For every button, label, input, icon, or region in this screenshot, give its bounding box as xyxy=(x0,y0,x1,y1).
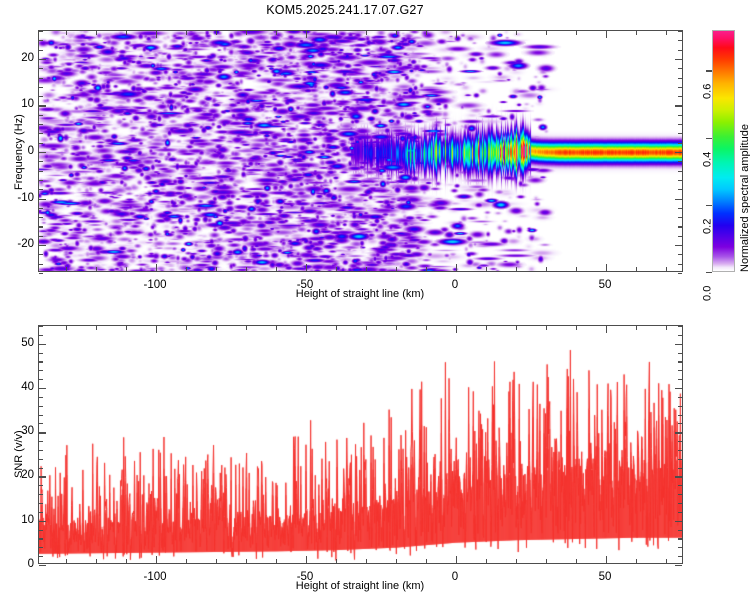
axis-tick xyxy=(96,267,97,271)
axis-tick xyxy=(39,78,43,79)
axis-tick xyxy=(606,556,607,563)
axis-tick xyxy=(39,87,43,88)
axis-tick xyxy=(276,559,277,563)
y-tick-label: 10 xyxy=(8,514,34,526)
x-tick-label: -100 xyxy=(143,279,166,291)
axis-tick xyxy=(678,68,682,69)
axis-tick xyxy=(678,503,682,504)
axis-tick xyxy=(576,267,577,271)
axis-tick xyxy=(39,441,43,442)
axis-tick xyxy=(216,559,217,563)
axis-tick xyxy=(39,565,46,566)
spectrogram-y-axis-title: Frequency (Hz) xyxy=(13,114,25,190)
axis-tick xyxy=(678,133,682,134)
axis-tick xyxy=(675,199,682,200)
axis-tick xyxy=(678,441,682,442)
axis-tick xyxy=(186,267,187,271)
axis-tick xyxy=(678,538,682,539)
snr-plot-area xyxy=(39,326,682,563)
snr-panel xyxy=(38,325,683,564)
axis-tick xyxy=(678,78,682,79)
y-tick-label: -10 xyxy=(8,192,34,204)
axis-tick xyxy=(66,267,67,271)
axis-tick xyxy=(546,326,547,330)
axis-tick xyxy=(678,161,682,162)
x-tick-label: -100 xyxy=(143,571,166,583)
colorbar-tick xyxy=(706,272,712,273)
axis-tick xyxy=(39,468,43,469)
axis-tick xyxy=(39,124,43,125)
axis-tick xyxy=(678,50,682,51)
axis-tick xyxy=(276,31,277,35)
axis-tick xyxy=(216,326,217,330)
axis-tick xyxy=(39,226,43,227)
axis-tick xyxy=(39,40,43,41)
axis-tick xyxy=(39,254,43,255)
axis-tick xyxy=(39,133,43,134)
axis-tick xyxy=(39,326,43,327)
axis-tick xyxy=(546,267,547,271)
axis-tick xyxy=(576,326,577,330)
axis-tick xyxy=(66,326,67,330)
axis-tick xyxy=(96,31,97,35)
x-tick-label: 0 xyxy=(452,571,458,583)
axis-tick xyxy=(675,245,682,246)
axis-tick xyxy=(39,406,43,407)
axis-tick xyxy=(39,264,43,265)
axis-tick xyxy=(39,245,46,246)
axis-tick xyxy=(39,31,43,32)
axis-tick xyxy=(678,397,682,398)
axis-tick xyxy=(39,361,43,362)
axis-tick xyxy=(39,423,43,424)
axis-tick xyxy=(39,68,43,69)
axis-tick xyxy=(678,459,682,460)
axis-tick xyxy=(366,31,367,35)
axis-tick xyxy=(396,31,397,35)
axis-tick xyxy=(675,59,682,60)
axis-tick xyxy=(39,379,43,380)
axis-tick xyxy=(39,171,43,172)
axis-tick xyxy=(516,267,517,271)
colorbar-tick-label: 0.2 xyxy=(701,218,713,233)
axis-tick xyxy=(666,31,667,35)
axis-tick xyxy=(426,31,427,35)
axis-tick xyxy=(486,326,487,330)
axis-tick xyxy=(276,326,277,330)
axis-tick xyxy=(678,40,682,41)
axis-tick xyxy=(678,415,682,416)
axis-tick xyxy=(246,326,247,330)
axis-tick xyxy=(396,559,397,563)
axis-tick xyxy=(366,267,367,271)
axis-tick xyxy=(456,326,457,333)
axis-tick xyxy=(678,254,682,255)
axis-tick xyxy=(39,189,43,190)
axis-tick xyxy=(636,326,637,330)
axis-tick xyxy=(675,476,682,477)
spectrogram-image xyxy=(39,31,682,271)
axis-tick xyxy=(678,87,682,88)
axis-tick xyxy=(678,226,682,227)
axis-tick xyxy=(516,326,517,330)
axis-tick xyxy=(39,485,43,486)
axis-tick xyxy=(96,326,97,330)
axis-tick xyxy=(246,559,247,563)
axis-tick xyxy=(426,326,427,330)
axis-tick xyxy=(396,267,397,271)
axis-tick xyxy=(39,217,43,218)
axis-tick xyxy=(678,556,682,557)
axis-tick xyxy=(306,264,307,271)
axis-tick xyxy=(576,559,577,563)
x-tick-label: 0 xyxy=(452,279,458,291)
axis-tick xyxy=(678,530,682,531)
axis-tick xyxy=(678,379,682,380)
colorbar xyxy=(712,30,735,272)
axis-tick xyxy=(39,494,43,495)
snr-trace xyxy=(39,326,682,563)
axis-tick xyxy=(678,180,682,181)
axis-tick xyxy=(606,31,607,38)
axis-tick xyxy=(126,267,127,271)
axis-tick xyxy=(678,96,682,97)
colorbar-gradient xyxy=(712,30,735,272)
axis-tick xyxy=(39,503,43,504)
axis-tick xyxy=(678,273,682,274)
axis-tick xyxy=(216,31,217,35)
axis-tick xyxy=(39,199,46,200)
axis-tick xyxy=(126,326,127,330)
axis-tick xyxy=(678,31,682,32)
axis-tick xyxy=(366,326,367,330)
axis-tick xyxy=(636,267,637,271)
y-tick-label: 10 xyxy=(8,98,34,110)
colorbar-title: Normalized spectral amplitude xyxy=(739,124,750,272)
axis-tick xyxy=(678,361,682,362)
axis-tick xyxy=(678,450,682,451)
axis-tick xyxy=(246,31,247,35)
axis-tick xyxy=(336,31,337,35)
axis-tick xyxy=(39,105,46,106)
axis-tick xyxy=(39,450,43,451)
axis-tick xyxy=(39,353,43,354)
axis-tick xyxy=(636,31,637,35)
axis-tick xyxy=(39,370,43,371)
snr-y-axis-title: SNR (v/v) xyxy=(13,430,25,478)
axis-tick xyxy=(678,236,682,237)
axis-tick xyxy=(126,559,127,563)
axis-tick xyxy=(39,344,46,345)
axis-tick xyxy=(636,559,637,563)
colorbar-tick xyxy=(706,138,712,139)
y-tick-label: -20 xyxy=(8,238,34,250)
page-title: KOM5.2025.241.17.07.G27 xyxy=(0,3,690,17)
figure-root: KOM5.2025.241.17.07.G27 -100-50050 -20-1… xyxy=(0,0,750,600)
axis-tick xyxy=(678,171,682,172)
axis-tick xyxy=(678,512,682,513)
axis-tick xyxy=(156,556,157,563)
axis-tick xyxy=(678,547,682,548)
axis-tick xyxy=(678,406,682,407)
axis-tick xyxy=(675,388,682,389)
axis-tick xyxy=(39,143,43,144)
axis-tick xyxy=(39,96,43,97)
axis-tick xyxy=(666,267,667,271)
axis-tick xyxy=(39,530,43,531)
axis-tick xyxy=(306,31,307,38)
axis-tick xyxy=(126,31,127,35)
spectrogram-x-axis-title: Height of straight line (km) xyxy=(296,288,424,300)
axis-tick xyxy=(39,415,43,416)
axis-tick xyxy=(486,267,487,271)
axis-tick xyxy=(675,521,682,522)
axis-tick xyxy=(66,31,67,35)
axis-tick xyxy=(678,370,682,371)
axis-tick xyxy=(678,143,682,144)
axis-tick xyxy=(678,494,682,495)
axis-tick xyxy=(156,31,157,38)
axis-tick xyxy=(39,397,43,398)
axis-tick xyxy=(246,267,247,271)
axis-tick xyxy=(39,476,46,477)
x-tick-label: 50 xyxy=(599,279,612,291)
axis-tick xyxy=(39,161,43,162)
colorbar-tick-label: 0.4 xyxy=(701,151,713,166)
axis-tick xyxy=(456,31,457,38)
axis-tick xyxy=(39,512,43,513)
axis-tick xyxy=(306,326,307,333)
axis-tick xyxy=(516,31,517,35)
colorbar-tick-label: 0.6 xyxy=(701,84,713,99)
axis-tick xyxy=(39,50,43,51)
axis-tick xyxy=(39,59,46,60)
axis-tick xyxy=(675,344,682,345)
axis-tick xyxy=(666,559,667,563)
axis-tick xyxy=(396,326,397,330)
axis-tick xyxy=(276,267,277,271)
axis-tick xyxy=(675,432,682,433)
axis-tick xyxy=(456,556,457,563)
axis-tick xyxy=(678,189,682,190)
axis-tick xyxy=(186,31,187,35)
axis-tick xyxy=(606,326,607,333)
y-tick-label: 50 xyxy=(8,337,34,349)
axis-tick xyxy=(39,538,43,539)
axis-tick xyxy=(678,208,682,209)
axis-tick xyxy=(39,459,43,460)
axis-tick xyxy=(675,152,682,153)
axis-tick xyxy=(546,559,547,563)
axis-tick xyxy=(675,105,682,106)
axis-tick xyxy=(678,353,682,354)
axis-tick xyxy=(576,31,577,35)
y-tick-label: 20 xyxy=(8,52,34,64)
axis-tick xyxy=(186,559,187,563)
spectrogram-panel xyxy=(38,30,683,272)
colorbar-tick-label: 0.0 xyxy=(701,286,713,301)
axis-tick xyxy=(336,559,337,563)
axis-tick xyxy=(678,326,682,327)
axis-tick xyxy=(306,556,307,563)
axis-tick xyxy=(426,267,427,271)
axis-tick xyxy=(39,335,43,336)
axis-tick xyxy=(678,468,682,469)
axis-tick xyxy=(156,326,157,333)
axis-tick xyxy=(678,423,682,424)
axis-tick xyxy=(39,208,43,209)
x-tick-label: 50 xyxy=(599,571,612,583)
axis-tick xyxy=(516,559,517,563)
snr-x-axis-title: Height of straight line (km) xyxy=(296,580,424,592)
axis-tick xyxy=(39,152,46,153)
axis-tick xyxy=(546,31,547,35)
axis-tick xyxy=(66,559,67,563)
axis-tick xyxy=(456,264,457,271)
axis-tick xyxy=(426,559,427,563)
axis-tick xyxy=(336,326,337,330)
axis-tick xyxy=(39,521,46,522)
axis-tick xyxy=(486,559,487,563)
axis-tick xyxy=(675,565,682,566)
axis-tick xyxy=(366,559,367,563)
axis-tick xyxy=(606,264,607,271)
axis-tick xyxy=(486,31,487,35)
axis-tick xyxy=(39,273,43,274)
axis-tick xyxy=(39,432,46,433)
axis-tick xyxy=(96,559,97,563)
colorbar-tick xyxy=(706,70,712,71)
axis-tick xyxy=(39,547,43,548)
axis-tick xyxy=(336,267,337,271)
axis-tick xyxy=(678,124,682,125)
axis-tick xyxy=(678,217,682,218)
axis-tick xyxy=(216,267,217,271)
axis-tick xyxy=(39,388,46,389)
axis-tick xyxy=(678,264,682,265)
colorbar-tick xyxy=(706,205,712,206)
axis-tick xyxy=(666,326,667,330)
axis-tick xyxy=(678,115,682,116)
y-tick-label: 40 xyxy=(8,381,34,393)
axis-tick xyxy=(156,264,157,271)
axis-tick xyxy=(186,326,187,330)
spectrogram-plot-area xyxy=(39,31,682,271)
y-tick-label: 0 xyxy=(8,558,34,570)
axis-tick xyxy=(39,236,43,237)
axis-tick xyxy=(39,115,43,116)
axis-tick xyxy=(678,485,682,486)
axis-tick xyxy=(678,335,682,336)
axis-tick xyxy=(39,556,43,557)
axis-tick xyxy=(39,180,43,181)
